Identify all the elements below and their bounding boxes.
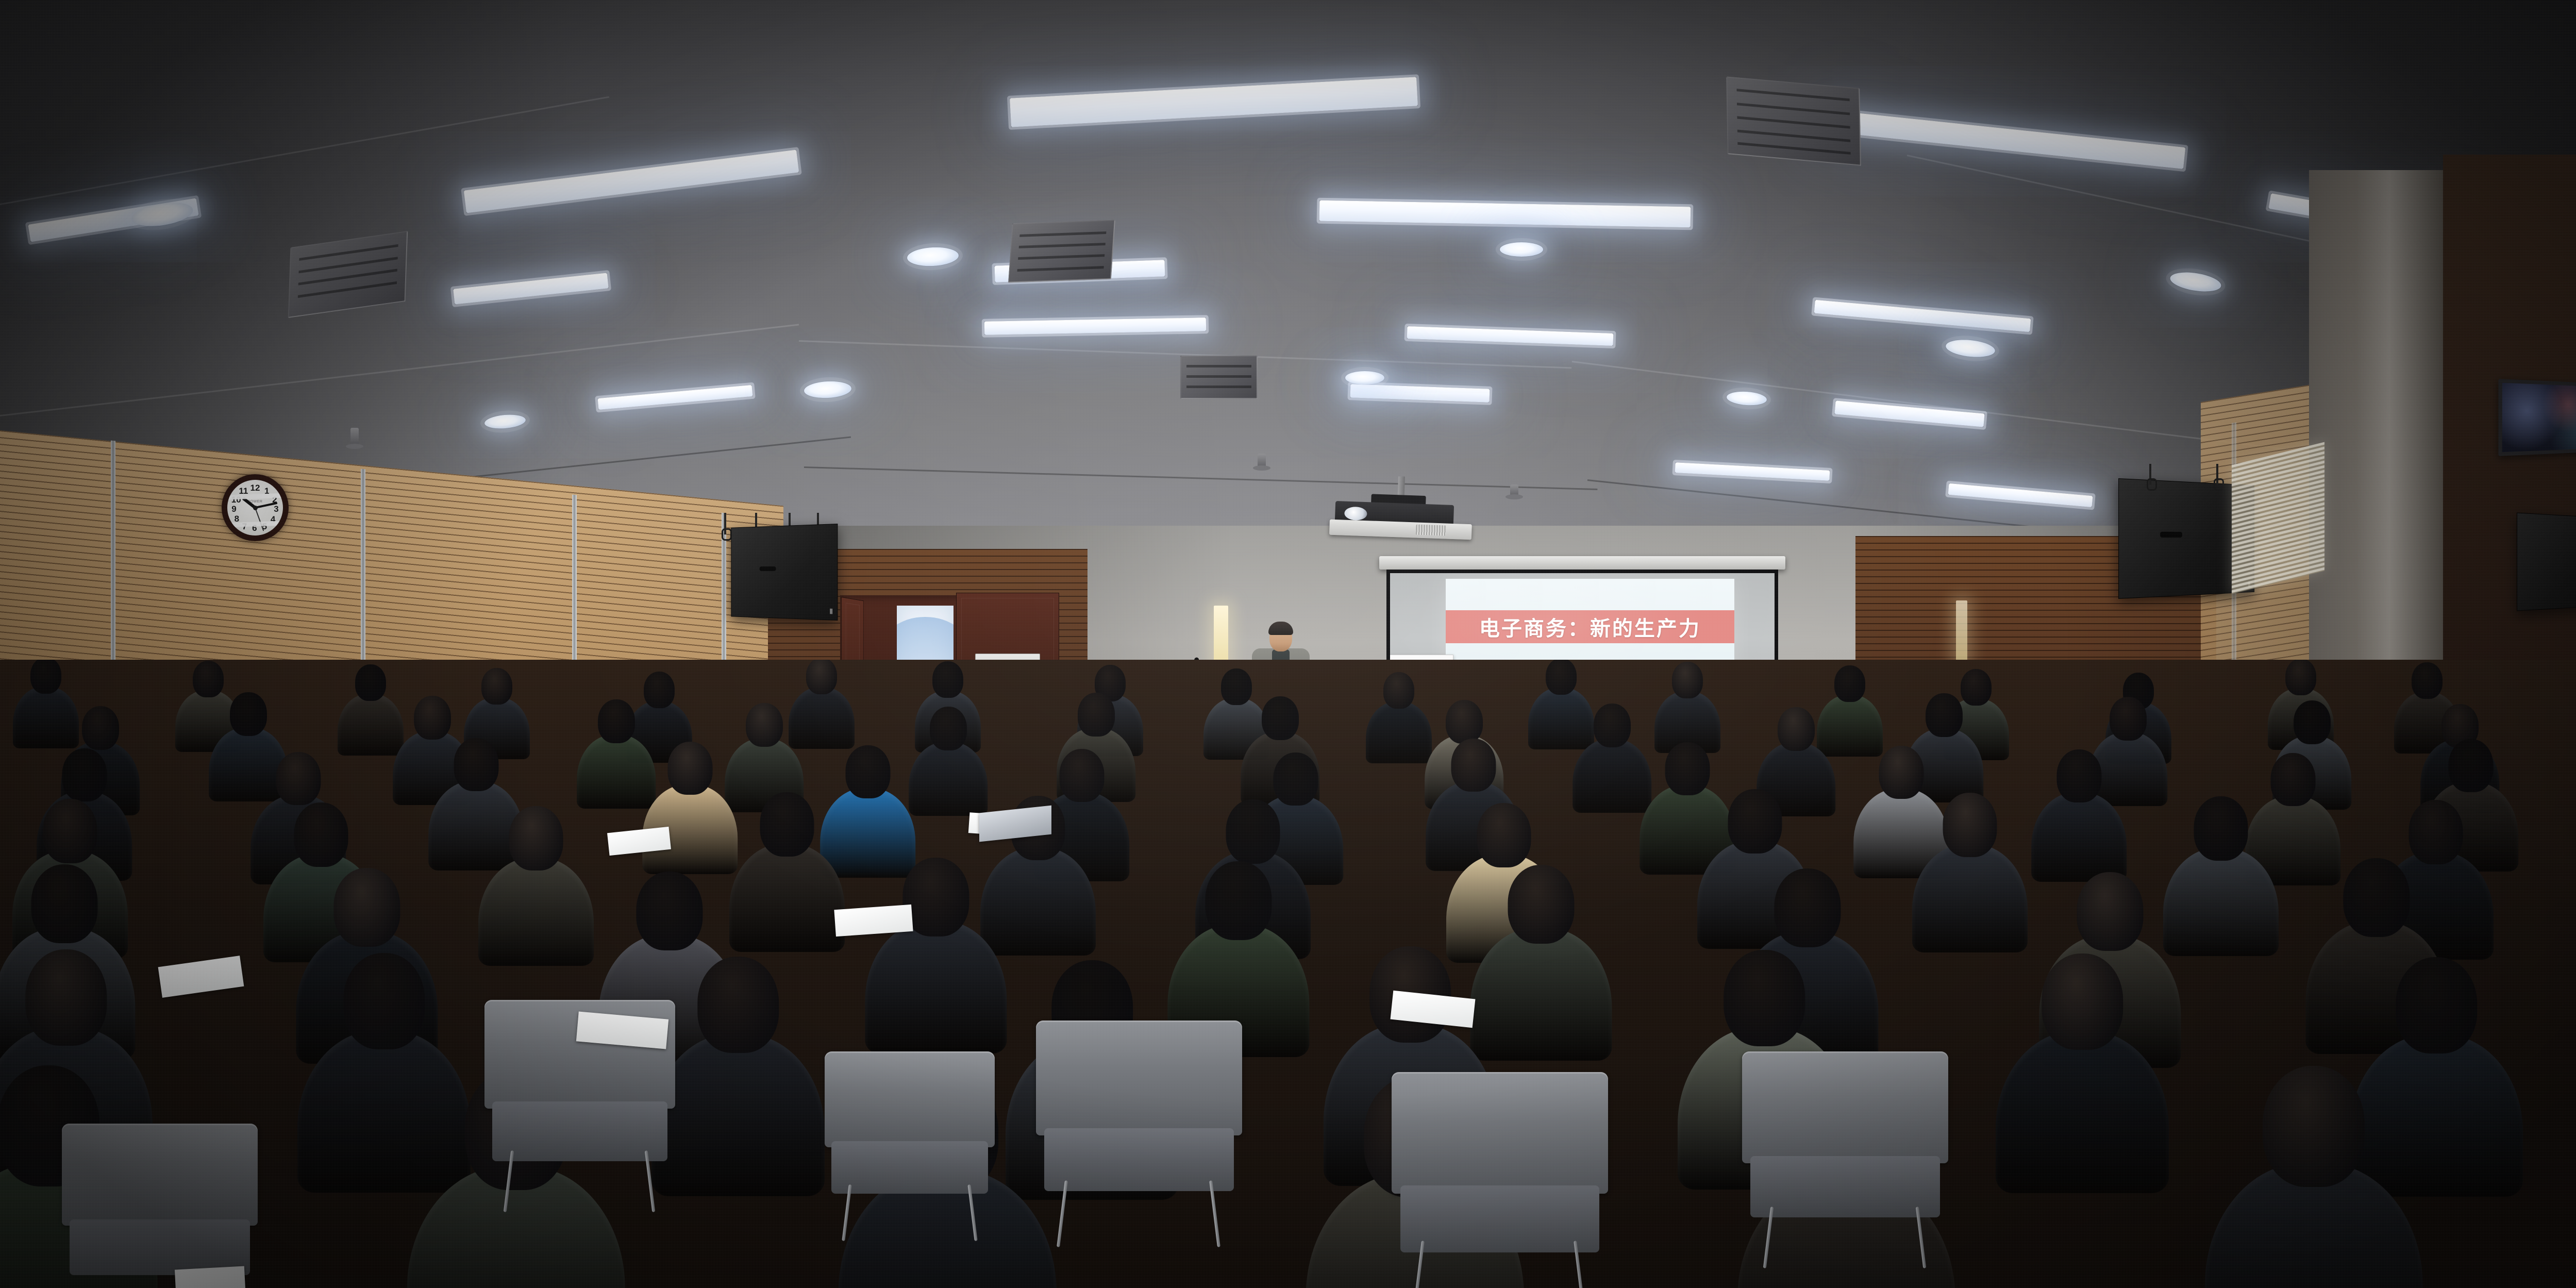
audience-member-head	[1451, 739, 1496, 792]
audience-member-head	[1943, 793, 1997, 857]
audience-member-torso	[478, 858, 594, 966]
audience-member-torso	[651, 1034, 825, 1196]
chair-seat	[1400, 1185, 1599, 1252]
audience-member-head	[1059, 749, 1104, 802]
chair[interactable]	[62, 1124, 258, 1288]
speaker-hanger	[2149, 464, 2151, 484]
audience-member-head	[2056, 749, 2101, 802]
audience-member-torso	[865, 921, 1007, 1053]
audience-member	[642, 742, 738, 884]
ceiling-downlight	[804, 380, 852, 399]
audience-member-head	[276, 752, 321, 805]
audience-member-head	[1546, 660, 1577, 695]
window-blinds	[2232, 442, 2324, 594]
audience-member-head	[2343, 858, 2410, 937]
ceiling-downlight	[484, 413, 526, 430]
audience-member-head	[1774, 868, 1841, 947]
audience-member-head	[1262, 696, 1299, 740]
fire-sprinkler-icon	[1258, 454, 1266, 467]
audience-member-head	[82, 706, 119, 750]
audience-member-torso	[1366, 701, 1432, 763]
audience-member-head	[2285, 660, 2316, 695]
audience-area: PANTERA COWBOYS	[0, 660, 2576, 1288]
audience-member	[1996, 954, 2169, 1212]
chair[interactable]	[1036, 1021, 1242, 1206]
audience-member-head	[1834, 665, 1865, 702]
wall-sconce-light	[1956, 600, 1967, 662]
audience-member-head	[31, 864, 97, 943]
chair-back	[1742, 1051, 1948, 1163]
audience-member	[2031, 749, 2127, 892]
chair[interactable]	[825, 1051, 995, 1206]
audience-member-head	[414, 696, 451, 740]
audience-member-head	[1205, 861, 1272, 940]
audience-member-head	[1078, 693, 1115, 737]
audience-member-head	[1594, 704, 1631, 747]
audience-member-head	[1778, 707, 1815, 751]
audience-member	[651, 957, 825, 1215]
chair-seat	[492, 1101, 667, 1161]
speaker-port	[759, 566, 776, 571]
audience-member-head	[1879, 746, 1923, 799]
audience-member-head	[25, 949, 107, 1046]
audience-member-head	[746, 703, 783, 747]
ceiling-downlight	[1726, 390, 1767, 406]
ceiling-downlight	[907, 246, 959, 267]
ceiling-light-panel	[1319, 200, 1691, 228]
chair-back	[1392, 1072, 1608, 1194]
ceiling-light-panel	[984, 317, 1206, 335]
screen-roller-case	[1379, 556, 1785, 570]
ceiling-air-vent	[1726, 76, 1861, 165]
chair[interactable]	[1392, 1072, 1608, 1268]
audience-member-head	[1383, 672, 1414, 709]
slide-title-band: 电子商务：新的生产力	[1446, 610, 1734, 643]
wall-monitor-screen	[2502, 383, 2576, 452]
audience-member	[909, 707, 988, 825]
audience-member-head	[1477, 803, 1531, 867]
left-wall-speaker: Ⅱ	[731, 524, 838, 621]
audience-member-torso	[1996, 1031, 2169, 1193]
audience-member-head	[1446, 700, 1483, 744]
chair-back	[825, 1051, 995, 1147]
audience-member-head	[333, 868, 400, 947]
ceiling-downlight	[1345, 371, 1384, 384]
ceiling-air-vent	[1008, 220, 1115, 282]
audience-member-head	[343, 953, 425, 1049]
lecture-hall-photo: 12 1 2 3 4 5 6 7 8 9 10 11 POWER Ⅱ Ⅱ	[0, 0, 2576, 1288]
speaker-port	[2160, 532, 2182, 538]
audience-member-torso	[909, 742, 988, 816]
audience-member	[729, 792, 845, 965]
clock-glass-glare	[227, 480, 283, 536]
audience-member-head	[598, 699, 635, 743]
ceiling-downlight	[1945, 338, 1996, 359]
audience-member-head	[932, 661, 963, 698]
audience-member-head	[760, 792, 814, 857]
audience-member-head	[806, 660, 837, 694]
speaker-hanger	[2216, 464, 2218, 484]
audience-member-head	[697, 957, 779, 1053]
chair-seat	[831, 1141, 988, 1194]
audience-member-head	[1273, 752, 1318, 806]
fire-sprinkler-icon	[1510, 484, 1518, 496]
speaker-brand-icon: Ⅱ	[829, 607, 833, 616]
audience-member-head	[2263, 1066, 2365, 1187]
audience-member-head	[1926, 693, 1963, 737]
audience-member-head	[636, 872, 702, 950]
audience-member-head	[481, 668, 512, 705]
audience-member-head	[2077, 872, 2143, 951]
audience-member	[478, 806, 594, 979]
audience-member-head	[62, 748, 107, 801]
chair-seat	[1750, 1156, 1940, 1217]
audience-member-head	[845, 745, 890, 798]
audience-member-head	[230, 692, 267, 736]
audience-member	[1912, 793, 2028, 965]
audience-member-head	[43, 799, 97, 863]
audience-member-head	[1226, 799, 1280, 864]
audience-member-head	[2409, 800, 2463, 864]
speaker-hanger	[724, 513, 726, 534]
audience-member-torso	[729, 844, 845, 952]
audience-member-head	[2448, 739, 2493, 792]
audience-member-head	[454, 738, 498, 791]
ceiling-air-vent	[1180, 356, 1258, 399]
audience-member-head	[355, 664, 386, 701]
audience-member-torso	[1912, 844, 2028, 952]
audience-member-head	[294, 802, 348, 867]
audience-member-torso	[2031, 792, 2127, 882]
audience-member-head	[2396, 957, 2477, 1053]
audience-member-head	[2042, 954, 2123, 1050]
audience-member-head	[2294, 700, 2331, 744]
chair-back	[1036, 1021, 1242, 1135]
audience-member-head	[667, 742, 712, 795]
audience-member	[865, 858, 1007, 1069]
chair-seat	[1044, 1128, 1234, 1191]
wall-monitor	[2498, 379, 2576, 456]
audience-member-head	[509, 806, 563, 871]
wall-clock: 12 1 2 3 4 5 6 7 8 9 10 11 POWER	[222, 474, 289, 541]
handout-paper	[175, 1266, 245, 1288]
right-corner-speaker	[2517, 512, 2576, 611]
audience-member-head	[930, 707, 967, 750]
audience-member-head	[2412, 662, 2443, 699]
handout-paper	[834, 905, 913, 936]
audience-member-head	[1672, 662, 1703, 698]
projector-vent	[1416, 525, 1446, 536]
audience-member-head	[1665, 742, 1710, 795]
audience-member-head	[1724, 950, 1805, 1046]
audience-member-head	[30, 660, 61, 694]
audience-member-head	[2194, 796, 2248, 861]
audience-member-head	[1508, 865, 1574, 944]
ceiling-projector	[1334, 493, 1454, 548]
audience-member	[1366, 672, 1432, 771]
presenter-hair	[1268, 622, 1293, 635]
chair-back	[62, 1124, 258, 1226]
audience-member	[2205, 1066, 2422, 1288]
audience-member-head	[2110, 697, 2147, 741]
audience-member-head	[1728, 789, 1782, 854]
chair[interactable]	[1742, 1051, 1948, 1232]
ceiling-downlight	[1500, 242, 1543, 257]
slide-title: 电子商务：新的生产力	[1479, 612, 1701, 642]
fire-sprinkler-icon	[350, 428, 359, 445]
